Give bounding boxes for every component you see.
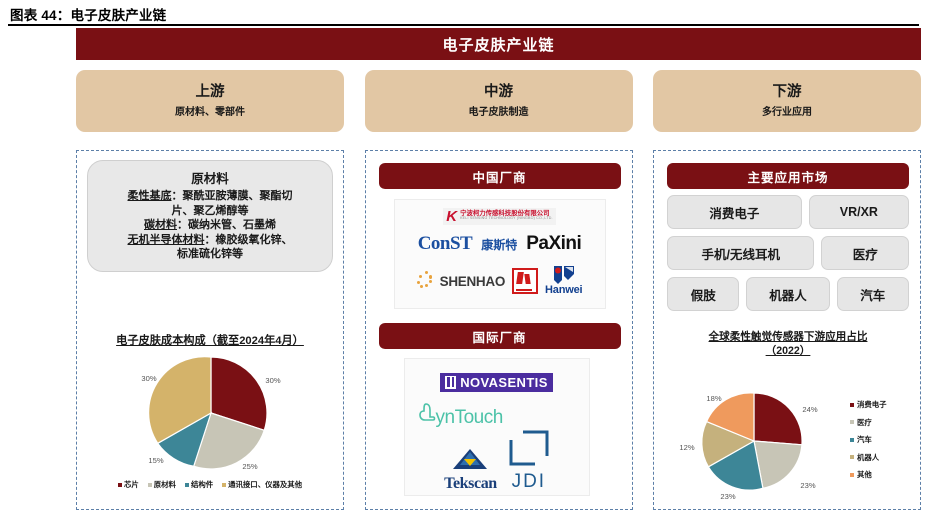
tekscan-logo: Tekscan [444, 448, 497, 493]
legend-item-raw: 原材料 [148, 479, 176, 490]
raw-materials-text-3: ：碳纳米管、石墨烯 [177, 219, 276, 231]
sensor-pie-title-line1: 全球柔性触觉传感器下游应用占比 [658, 330, 918, 344]
legend-swatch-comms [222, 483, 226, 487]
keli-text-block: 宁波柯力传感科技股份有限公司 KELI SENSING TECHNOLOGY (… [460, 211, 553, 221]
intl-vendors-panel: NOVASENTIS ynTouch Tekscan [404, 358, 590, 496]
legend-item-comms: 通讯接口、仪器及其他 [222, 479, 302, 490]
legend-label-robotics: 机器人 [857, 452, 879, 463]
stage-header-row: 上游 原材料、零部件 中游 电子皮肤制造 下游 多行业应用 [76, 70, 921, 132]
logo-row-const-paxini: ConST 康斯特 PaXini [395, 229, 605, 259]
tekscan-logo-text: Tekscan [444, 475, 497, 493]
stage-downstream: 下游 多行业应用 [653, 70, 921, 132]
paxini-logo-text: PaXini [526, 233, 581, 255]
sensor-pie-chart: 24% 23% 23% 12% 18% [658, 383, 848, 501]
chain-columns: 原材料 柔性基底：聚酰亚胺薄膜、聚酯切 片、聚乙烯醇等 碳材料：碳纳米管、石墨烯… [76, 150, 921, 510]
legend-swatch-raw [148, 483, 152, 487]
column-upstream: 原材料 柔性基底：聚酰亚胺薄膜、聚酯切 片、聚乙烯醇等 碳材料：碳纳米管、石墨烯… [76, 150, 344, 510]
legend-swatch-chip [118, 483, 122, 487]
hanwei-logo-text: Hanwei [545, 284, 582, 296]
intl-vendors-header-label: 国际厂商 [472, 327, 526, 346]
logo-row-shenhao-hanwei: SHENHAO Hanwei [395, 259, 605, 303]
logo-row-tekscan-jdi: Tekscan JDI [405, 437, 589, 497]
legend-item-consumer: 消费电子 [850, 399, 887, 410]
cost-pie-title: 电子皮肤成本构成（截至2024年4月） [77, 332, 343, 348]
tekscan-triangle-icon [452, 448, 488, 475]
raw-materials-line-5: 标准硫化锌等 [96, 247, 324, 262]
shenhao-dots-icon [417, 271, 433, 291]
stage-upstream-title: 上游 [196, 84, 225, 101]
syntouch-finger-icon [419, 403, 436, 434]
logo-row-novasentis: NOVASENTIS [405, 365, 589, 399]
app-consumer-electronics[interactable]: 消费电子 [667, 195, 802, 229]
legend-swatch-medical [850, 420, 854, 424]
cost-label-comms: 30% [141, 374, 156, 383]
legend-label-automotive: 汽车 [857, 434, 872, 445]
const-logo-text: ConST [418, 233, 473, 255]
stage-downstream-subtitle: 多行业应用 [762, 103, 812, 118]
figure-title: 图表 44：电子皮肤产业链 [10, 4, 166, 24]
china-vendors-panel: K 宁波柯力传感科技股份有限公司 KELI SENSING TECHNOLOGY… [394, 199, 606, 309]
cost-label-raw: 25% [242, 462, 257, 471]
raw-materials-line-2: 片、聚乙烯醇等 [96, 204, 324, 219]
legend-label-comms: 通讯接口、仪器及其他 [228, 479, 302, 490]
sensor-slice-consumer [754, 393, 802, 445]
cost-pie-chart: 30% 25% 15% 30% [77, 347, 343, 479]
novasentis-mark-icon [445, 376, 456, 389]
app-robotics[interactable]: 机器人 [746, 277, 829, 311]
sensor-pie-svg: 24% 23% 23% 12% 18% [658, 383, 848, 501]
sensor-label-medical: 23% [800, 481, 815, 490]
sensor-pie-title: 全球柔性触觉传感器下游应用占比 （2022） [658, 330, 918, 359]
sensor-label-consumer: 24% [802, 405, 817, 414]
legend-item-chip: 芯片 [118, 479, 139, 490]
legend-label-other: 其他 [857, 469, 872, 480]
legend-label-structure: 结构件 [191, 479, 213, 490]
cost-pie-svg: 30% 25% 15% 30% [77, 347, 345, 479]
sensor-label-other: 18% [706, 394, 721, 403]
apps-row-2: 手机/无线耳机 医疗 [667, 236, 909, 270]
raw-materials-label-3: 碳材料 [144, 219, 177, 231]
cost-label-structure: 15% [148, 456, 163, 465]
const-logo-cn: 康斯特 [481, 236, 517, 253]
sensor-pie-title-line2: （2022） [658, 344, 918, 358]
novasentis-logo: NOVASENTIS [440, 373, 553, 392]
stage-midstream-subtitle: 电子皮肤制造 [469, 103, 529, 118]
sensor-label-robotics: 12% [679, 443, 694, 452]
jdi-logo-text: JDI [512, 471, 547, 493]
redsquare-logo-icon [512, 268, 538, 294]
legend-swatch-robotics [850, 455, 854, 459]
novasentis-logo-text: NOVASENTIS [460, 375, 548, 390]
jdi-logo: JDI [509, 430, 549, 493]
legend-item-robotics: 机器人 [850, 452, 887, 463]
title-divider [8, 24, 919, 26]
sensor-pie-legend: 消费电子 医疗 汽车 机器人 其他 [850, 399, 887, 480]
app-automotive[interactable]: 汽车 [837, 277, 909, 311]
legend-label-medical: 医疗 [857, 417, 872, 428]
raw-materials-line-3: 碳材料：碳纳米管、石墨烯 [96, 218, 324, 233]
china-vendors-header: 中国厂商 [379, 163, 621, 189]
legend-swatch-consumer [850, 403, 854, 407]
logo-row-keli: K 宁波柯力传感科技股份有限公司 KELI SENSING TECHNOLOGY… [395, 203, 605, 229]
logo-row-syntouch: ynTouch [405, 399, 589, 437]
column-midstream: 中国厂商 K 宁波柯力传感科技股份有限公司 KELI SENSING TECHN… [365, 150, 633, 510]
legend-label-raw: 原材料 [154, 479, 176, 490]
sensor-label-automotive: 23% [720, 492, 735, 501]
intl-vendors-header: 国际厂商 [379, 323, 621, 349]
app-medical[interactable]: 医疗 [821, 236, 909, 270]
keli-mark-icon: K [446, 209, 457, 224]
cost-pie-legend: 芯片 原材料 结构件 通讯接口、仪器及其他 [77, 479, 343, 490]
apps-market-header-label: 主要应用市场 [747, 167, 828, 186]
shenhao-logo-text: SHENHAO [440, 274, 505, 289]
chain-banner-title: 电子皮肤产业链 [442, 34, 554, 55]
legend-label-consumer: 消费电子 [857, 399, 887, 410]
raw-materials-text-4: ：橡胶级氧化锌、 [205, 234, 293, 246]
legend-item-medical: 医疗 [850, 417, 887, 428]
apps-row-1: 消费电子 VR/XR [667, 195, 909, 229]
raw-materials-label-1: 柔性基底 [128, 190, 172, 202]
legend-item-structure: 结构件 [185, 479, 213, 490]
raw-materials-box: 原材料 柔性基底：聚酰亚胺薄膜、聚酯切 片、聚乙烯醇等 碳材料：碳纳米管、石墨烯… [87, 160, 333, 272]
hanwei-logo: Hanwei [545, 266, 582, 296]
legend-item-other: 其他 [850, 469, 887, 480]
apps-market-header: 主要应用市场 [667, 163, 909, 189]
legend-swatch-other [850, 473, 854, 477]
legend-item-automotive: 汽车 [850, 434, 887, 445]
app-phone-earbuds[interactable]: 手机/无线耳机 [667, 236, 814, 270]
stage-upstream-subtitle: 原材料、零部件 [175, 103, 245, 118]
app-prosthetics[interactable]: 假肢 [667, 277, 739, 311]
stage-midstream: 中游 电子皮肤制造 [365, 70, 633, 132]
column-downstream: 主要应用市场 消费电子 VR/XR 手机/无线耳机 医疗 假肢 机器人 汽车 全… [653, 150, 921, 510]
app-vr-xr[interactable]: VR/XR [809, 195, 909, 229]
raw-materials-text-1: ：聚酰亚胺薄膜、聚酯切 [172, 190, 293, 202]
raw-materials-label-4: 无机半导体材料 [128, 234, 205, 246]
jdi-bracket-icon [509, 430, 549, 471]
keli-company-en: KELI SENSING TECHNOLOGY (NINGBO) CO.,LTD… [460, 217, 553, 221]
legend-label-chip: 芯片 [124, 479, 139, 490]
chain-banner: 电子皮肤产业链 [76, 28, 921, 60]
apps-row-3: 假肢 机器人 汽车 [667, 277, 909, 311]
stage-downstream-title: 下游 [773, 84, 802, 101]
keli-logo: K 宁波柯力传感科技股份有限公司 KELI SENSING TECHNOLOGY… [443, 208, 556, 225]
legend-swatch-structure [185, 483, 189, 487]
legend-swatch-automotive [850, 438, 854, 442]
raw-materials-line-1: 柔性基底：聚酰亚胺薄膜、聚酯切 [96, 189, 324, 204]
stage-upstream: 上游 原材料、零部件 [76, 70, 344, 132]
raw-materials-title: 原材料 [96, 168, 324, 187]
apps-market-grid: 消费电子 VR/XR 手机/无线耳机 医疗 假肢 机器人 汽车 [667, 195, 909, 318]
stage-midstream-title: 中游 [484, 84, 513, 101]
china-vendors-header-label: 中国厂商 [472, 167, 526, 186]
raw-materials-line-4: 无机半导体材料：橡胶级氧化锌、 [96, 233, 324, 248]
syntouch-logo-text: ynTouch [436, 407, 503, 429]
hanwei-mark-icon [553, 266, 575, 284]
cost-label-chip: 30% [265, 376, 280, 385]
